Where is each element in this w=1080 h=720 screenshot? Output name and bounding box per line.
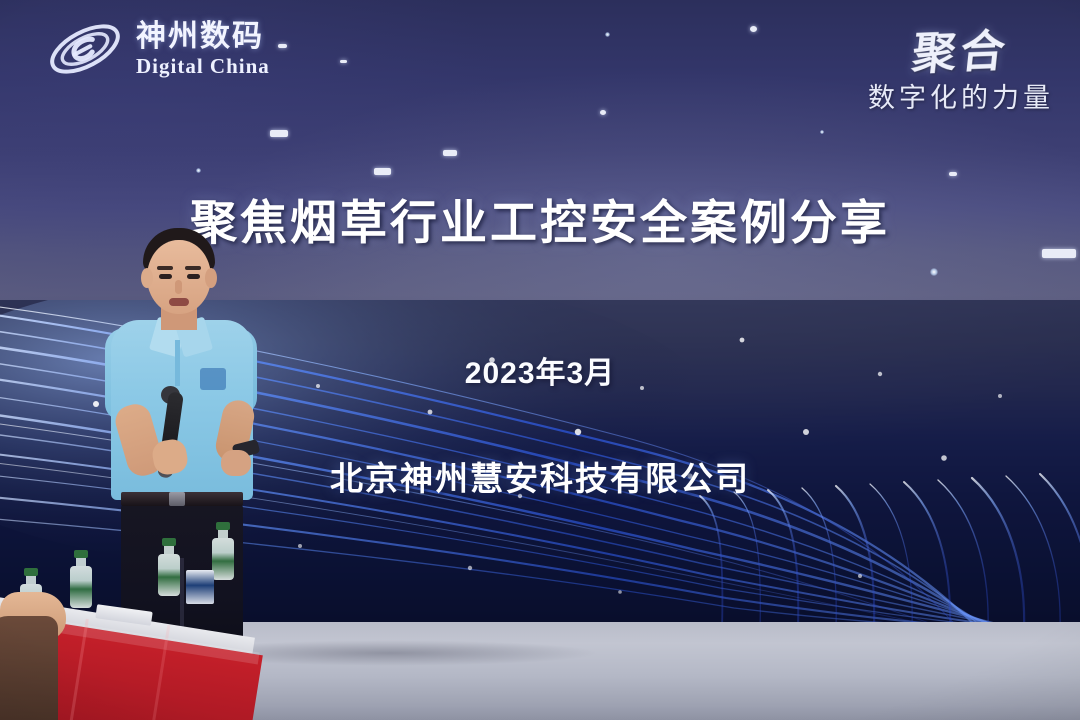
water-bottle [70, 550, 92, 608]
brand-logo: 神州数码 Digital China [44, 18, 270, 80]
photo-scene: 神州数码 Digital China 聚合 数字化的力量 聚焦烟草行业工控安全案… [0, 0, 1080, 720]
name-card [186, 570, 214, 604]
digital-china-swirl-icon [44, 18, 126, 80]
event-calligraphy: 聚合 [864, 13, 1058, 83]
presenter-eyebrow-left [157, 266, 173, 270]
presenter-belt-buckle [169, 492, 185, 506]
presenter-mouth [169, 298, 189, 306]
brand-name-en: Digital China [136, 56, 270, 77]
presenter-nose [175, 280, 182, 294]
presenter-placket [175, 340, 180, 386]
water-bottle [158, 538, 180, 596]
presenter-hand-holding-clicker [221, 450, 251, 476]
presenter-ear-right [205, 268, 217, 288]
brand-name-cn: 神州数码 [136, 22, 270, 52]
presenter-chest-logo-icon [200, 368, 226, 390]
brand-logo-text: 神州数码 Digital China [136, 22, 270, 77]
presenter-eye-left [159, 274, 172, 279]
presenter-ear-left [141, 268, 153, 288]
attendee-silhouette [0, 616, 58, 720]
water-bottle [212, 522, 234, 580]
presenter-eyebrow-right [185, 266, 201, 270]
presenter-eye-right [187, 274, 200, 279]
event-mark: 聚合 数字化的力量 [868, 16, 1054, 115]
